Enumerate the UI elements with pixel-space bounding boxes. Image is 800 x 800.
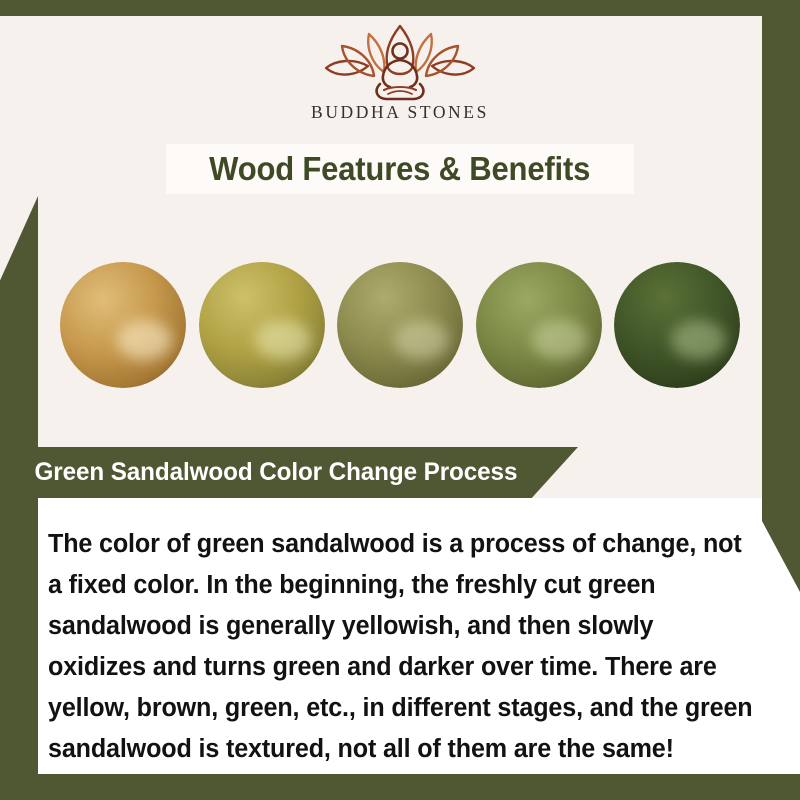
section-heading: Green Sandalwood Color Change Process — [34, 458, 517, 487]
body-paragraph: The color of green sandalwood is a proce… — [48, 524, 755, 770]
frame-band-right — [762, 0, 800, 592]
bead-stage-3 — [337, 262, 463, 388]
infographic-poster: BUDDHA STONES Wood Features & Benefits — [0, 0, 800, 800]
title-plate: Wood Features & Benefits — [166, 144, 634, 194]
brand-header: BUDDHA STONES — [0, 16, 800, 142]
bead-stage-1 — [60, 262, 186, 388]
frame-band-left — [0, 196, 38, 800]
brand-name: BUDDHA STONES — [311, 102, 489, 123]
bead-stage-2 — [199, 262, 325, 388]
lotus-meditation-figure-icon — [316, 24, 484, 104]
body-text-panel: The color of green sandalwood is a proce… — [38, 498, 800, 774]
bead-stage-5 — [614, 262, 740, 388]
frame-band-bottom — [0, 774, 800, 800]
page-title: Wood Features & Benefits — [209, 150, 590, 188]
section-banner: Green Sandalwood Color Change Process — [0, 447, 578, 498]
bead-stage-4 — [476, 262, 602, 388]
bead-color-stage-row — [38, 232, 762, 418]
frame-band-top — [0, 0, 800, 16]
